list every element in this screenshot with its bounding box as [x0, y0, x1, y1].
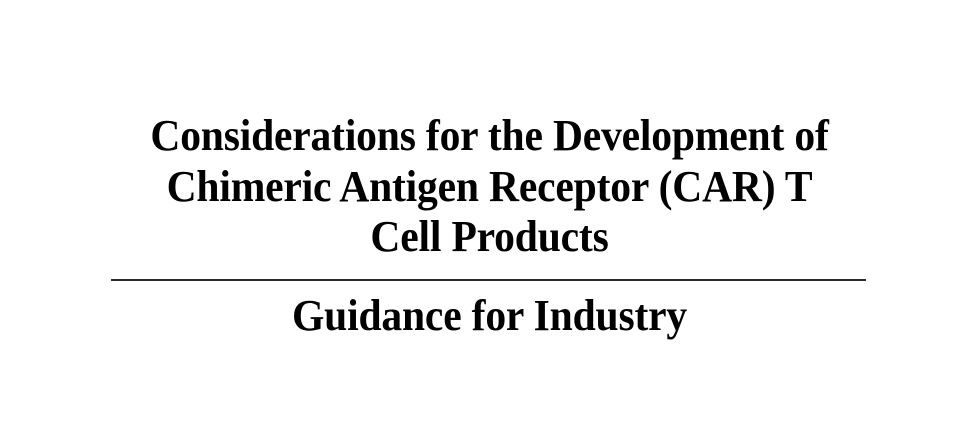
title-line-3: Cell Products	[27, 212, 952, 263]
title-line-1: Considerations for the Development of	[27, 111, 952, 162]
document-title: Considerations for the Development of Ch…	[0, 111, 979, 263]
horizontal-rule	[111, 279, 866, 281]
title-line-2: Chimeric Antigen Receptor (CAR) T	[27, 162, 952, 213]
document-cover-page: Considerations for the Development of Ch…	[0, 0, 979, 423]
title-divider	[0, 279, 979, 282]
subtitle-text: Guidance for Industry	[27, 291, 952, 341]
document-subtitle: Guidance for Industry	[0, 291, 979, 341]
